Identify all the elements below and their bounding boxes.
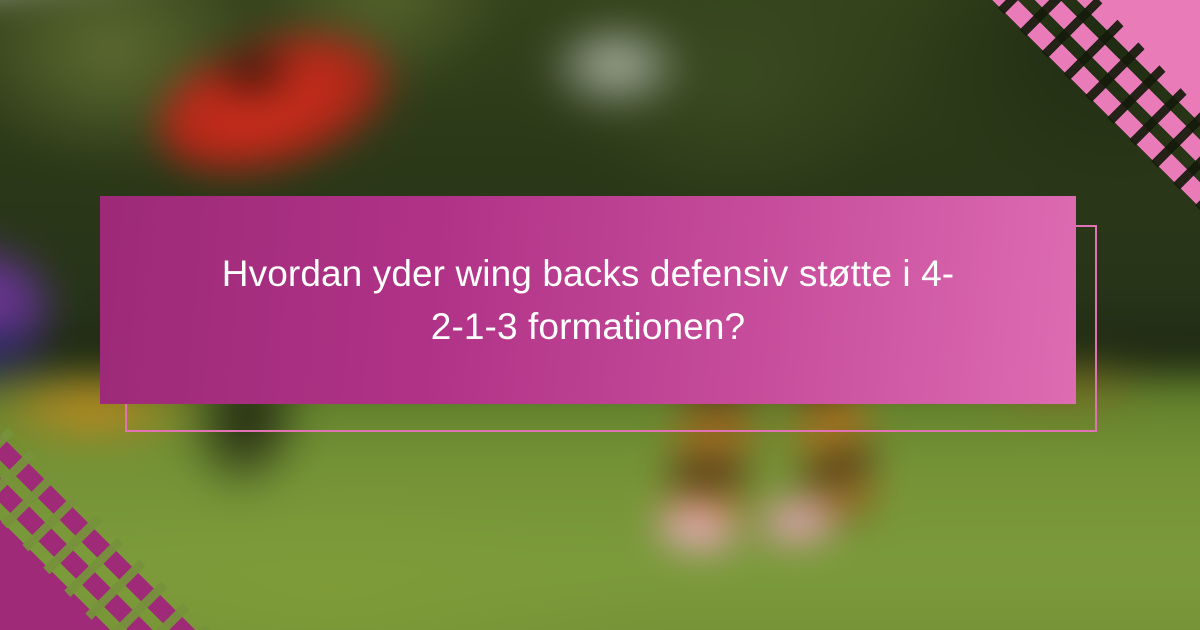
page-title: Hvordan yder wing backs defensiv støtte … xyxy=(218,247,958,354)
social-card: Hvordan yder wing backs defensiv støtte … xyxy=(0,0,1200,630)
background-light-blob xyxy=(547,28,685,111)
title-banner: Hvordan yder wing backs defensiv støtte … xyxy=(100,196,1076,404)
background-player-head xyxy=(206,40,301,106)
corner-decoration-bottom-left xyxy=(0,420,210,630)
corner-decoration-top-right xyxy=(990,0,1200,210)
